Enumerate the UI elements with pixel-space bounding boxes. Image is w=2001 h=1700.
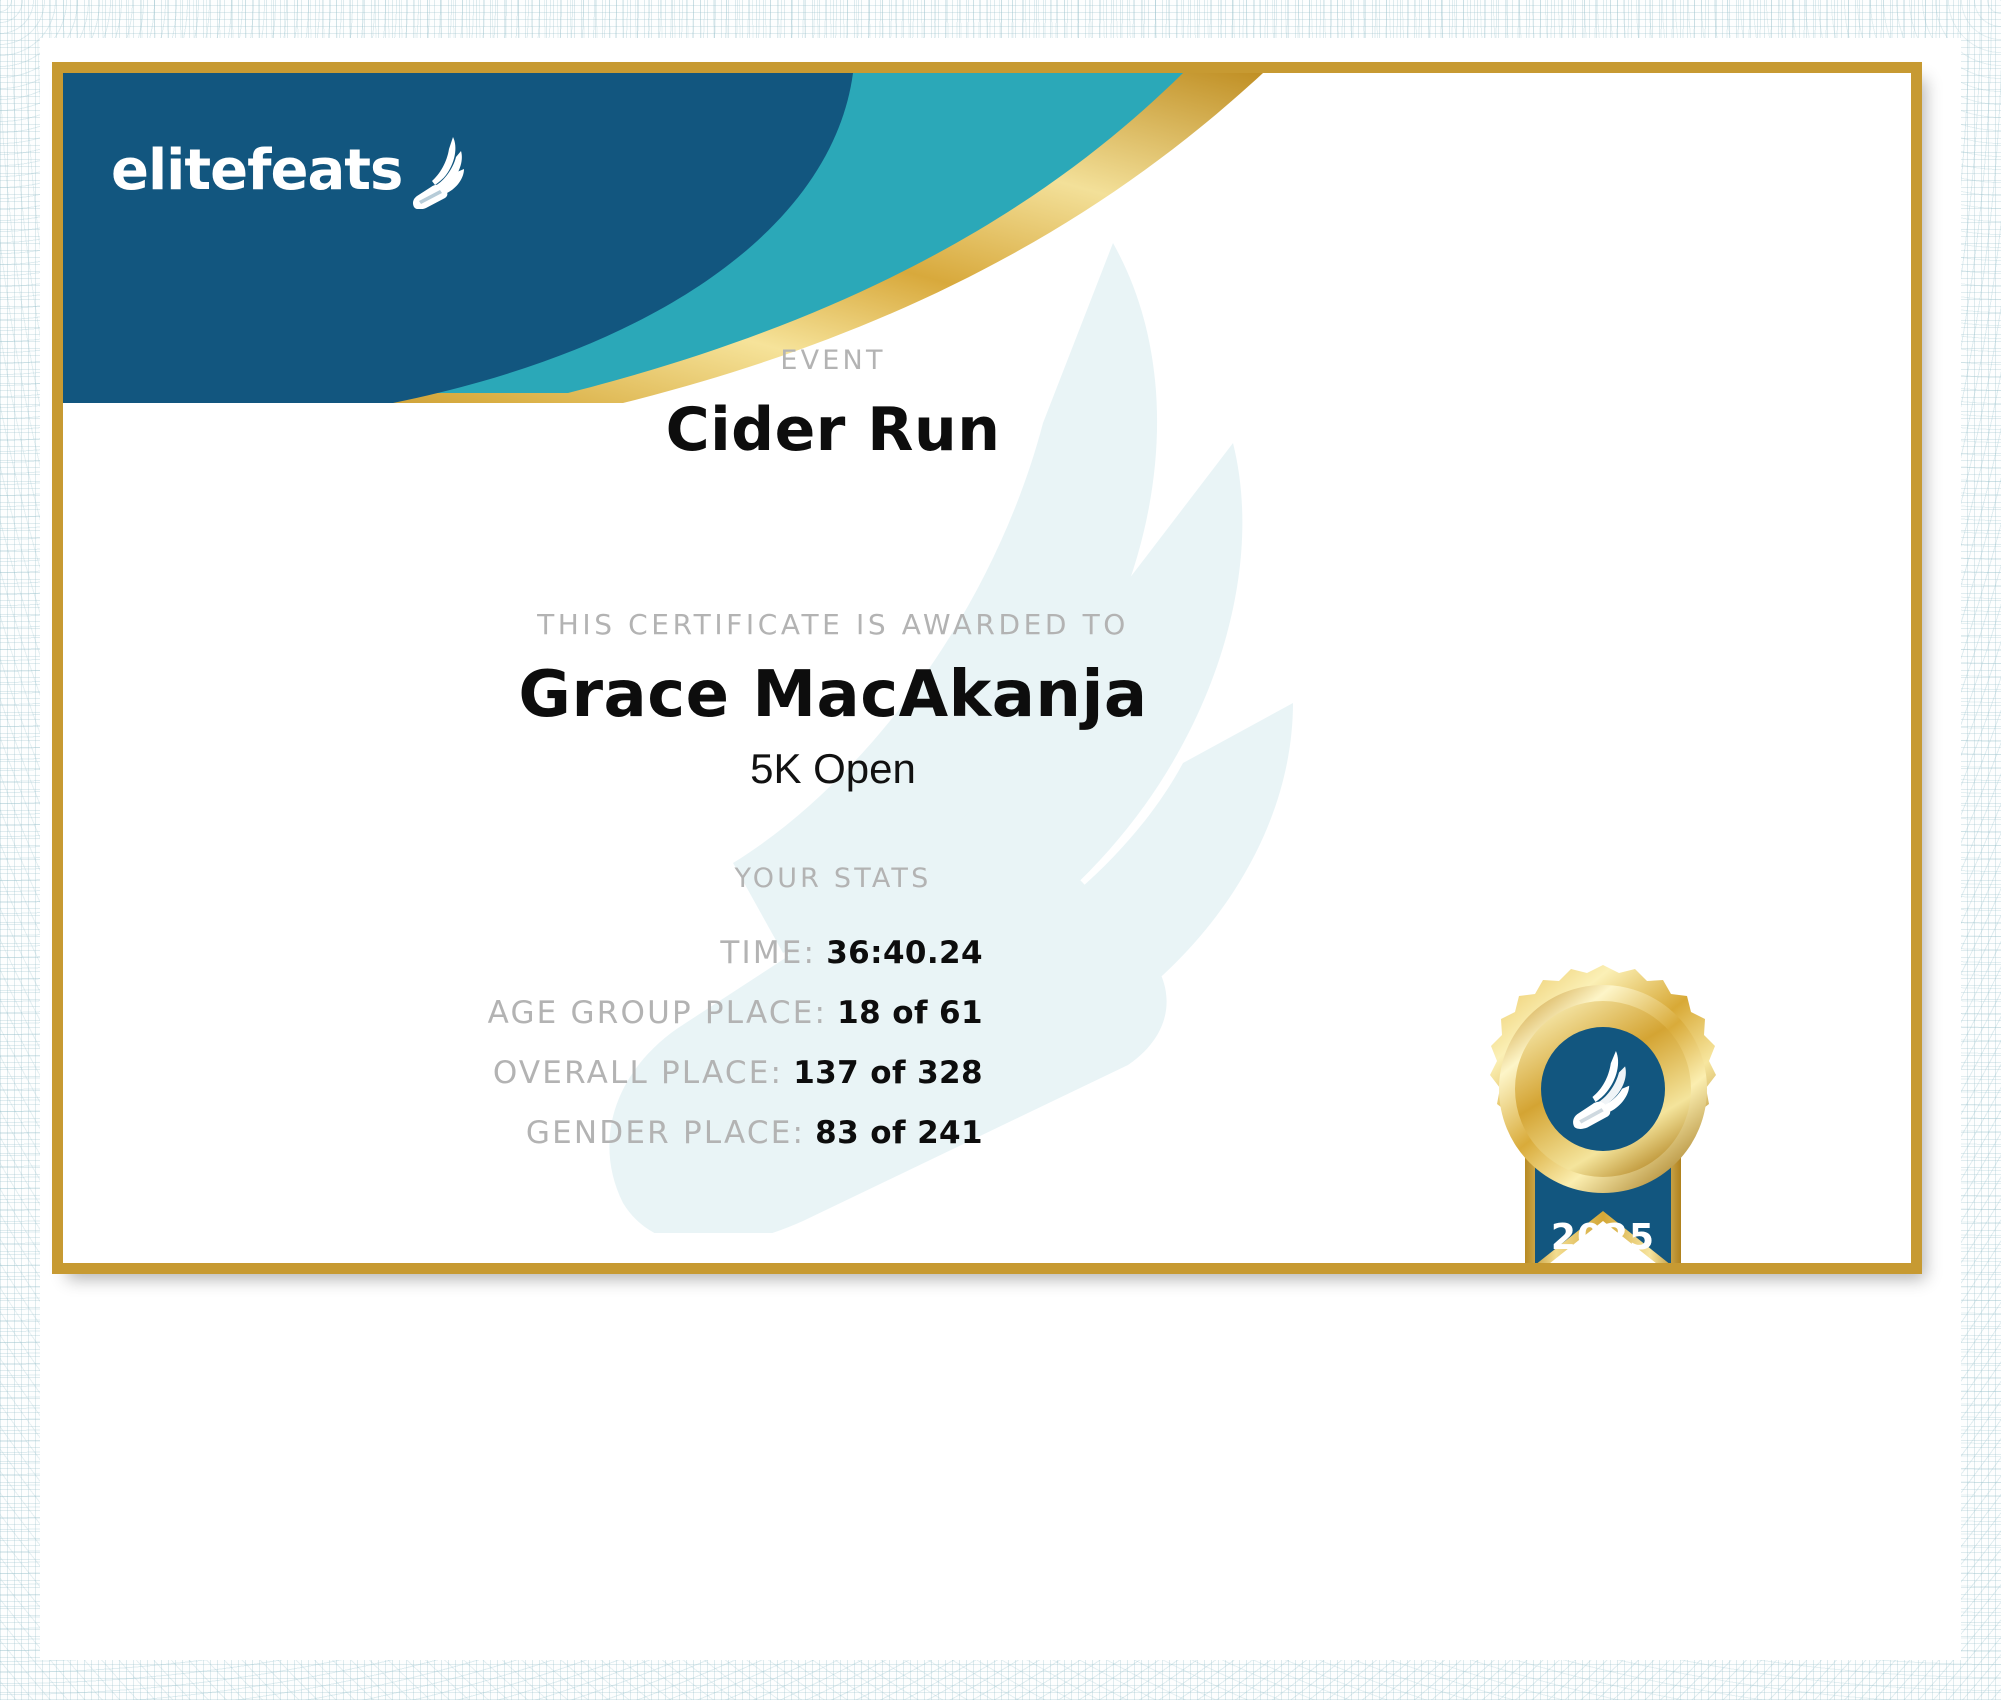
stat-row: OVERALL PLACE:137 of 328 bbox=[63, 1055, 1603, 1091]
event-name: Cider Run bbox=[63, 395, 1603, 465]
stat-key: GENDER PLACE: bbox=[526, 1115, 805, 1151]
medal-icon: 2025 bbox=[1453, 953, 1753, 1263]
recipient-name: Grace MacAkanja bbox=[63, 658, 1603, 732]
stat-value: 36:40.24 bbox=[826, 935, 983, 971]
stat-key: AGE GROUP PLACE: bbox=[488, 995, 828, 1031]
certificate-body: elitefeats EVENT Cider Run THIS CERTIFIC… bbox=[63, 73, 1911, 1263]
stat-row: TIME:36:40.24 bbox=[63, 935, 1603, 971]
stat-value: 137 of 328 bbox=[793, 1055, 983, 1091]
awarded-to-label: THIS CERTIFICATE IS AWARDED TO bbox=[63, 608, 1603, 641]
stats-list: TIME:36:40.24 AGE GROUP PLACE:18 of 61 O… bbox=[63, 935, 1603, 1175]
certificate-page: elitefeats EVENT Cider Run THIS CERTIFIC… bbox=[0, 0, 2001, 1700]
stat-row: AGE GROUP PLACE:18 of 61 bbox=[63, 995, 1603, 1031]
stat-value: 18 of 61 bbox=[837, 995, 983, 1031]
stat-key: TIME: bbox=[720, 935, 816, 971]
division-name: 5K Open bbox=[63, 745, 1603, 793]
finisher-medal-badge: 2025 FINISHER CERTIFICATE bbox=[1453, 953, 1753, 1263]
your-stats-label: YOUR STATS bbox=[63, 863, 1603, 894]
winged-foot-icon bbox=[406, 135, 472, 209]
elitefeats-logo: elitefeats bbox=[111, 135, 472, 199]
stat-value: 83 of 241 bbox=[815, 1115, 983, 1151]
medal-year: 2025 bbox=[1551, 1217, 1655, 1258]
certificate-frame: elitefeats EVENT Cider Run THIS CERTIFIC… bbox=[52, 62, 1922, 1274]
stat-key: OVERALL PLACE: bbox=[493, 1055, 783, 1091]
event-label: EVENT bbox=[63, 345, 1603, 376]
logo-wordmark: elitefeats bbox=[111, 143, 402, 199]
stat-row: GENDER PLACE:83 of 241 bbox=[63, 1115, 1603, 1151]
